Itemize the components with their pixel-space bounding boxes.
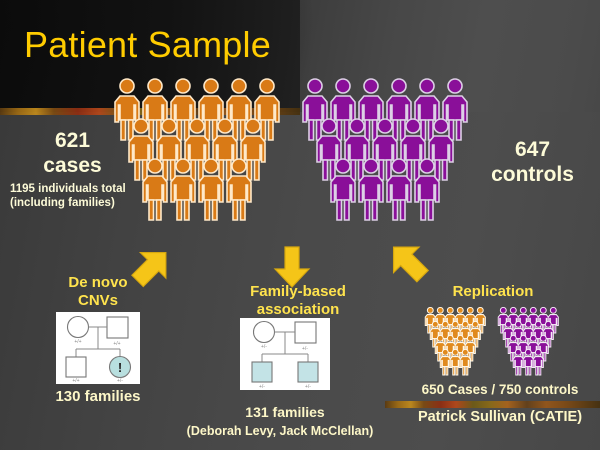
panel-title-family-based-association: Family-based association: [228, 283, 368, 319]
svg-text:+/+: +/+: [74, 339, 81, 345]
caption-replication-credit: Patrick Sullivan (CATIE): [400, 409, 600, 425]
controls-figure: [328, 158, 358, 227]
replication-cases-crowd-pictogram: [424, 307, 490, 379]
svg-text:+/+: +/+: [72, 378, 79, 384]
svg-text:!: !: [118, 360, 122, 375]
panel-title-de-novo-cnvs: De novo CNVs: [38, 274, 158, 310]
svg-text:+/-: +/-: [117, 378, 123, 384]
panel-title-line2: association: [228, 301, 368, 319]
controls-figure: [384, 158, 414, 227]
svg-text:+/-: +/-: [259, 384, 265, 390]
cases-figure: [224, 158, 254, 227]
panel-title-line1: Family-based: [228, 283, 368, 301]
caption-replication-counts: 650 Cases / 750 controls: [400, 382, 600, 397]
cases-figure: [140, 158, 170, 227]
svg-text:+/+: +/+: [113, 341, 120, 347]
controls-crowd-pictogram: [300, 78, 500, 233]
replication-controls-crowd-pictogram: [497, 307, 563, 379]
caption-de-novo-families: 130 families: [28, 388, 168, 405]
controls-figure: [412, 158, 442, 227]
cases-figure: [168, 158, 198, 227]
panel-title-line1: Replication: [428, 283, 558, 301]
replication-case-figure: [459, 349, 472, 381]
svg-text:+/-: +/-: [305, 384, 311, 390]
page-title: Patient Sample: [24, 24, 271, 66]
slide-canvas: Patient Sample 621 cases 1195 individual…: [0, 0, 600, 450]
footer-credit: (Deborah Levy, Jack McClellan): [140, 424, 420, 438]
svg-text:+/-: +/-: [261, 344, 267, 350]
pedigree-diagram-family-based: +/- +/- +/- +/-: [240, 318, 330, 390]
replication-control-figure: [532, 349, 545, 381]
pedigree-diagram-de-novo: ! +/+ +/+ +/+ +/-: [56, 312, 140, 384]
panel-title-line2: CNVs: [38, 292, 158, 310]
controls-figure: [356, 158, 386, 227]
down-right-arrow-icon: [383, 239, 431, 285]
svg-text:+/-: +/-: [302, 346, 308, 352]
down-arrow-icon: [272, 246, 312, 288]
decorative-band-bottom: [385, 401, 600, 408]
cases-figure: [196, 158, 226, 227]
caption-family-based-families: 131 families: [225, 404, 345, 420]
panel-title-line1: De novo: [38, 274, 158, 292]
panel-title-replication: Replication: [428, 283, 558, 301]
cases-crowd-pictogram: [112, 78, 312, 233]
